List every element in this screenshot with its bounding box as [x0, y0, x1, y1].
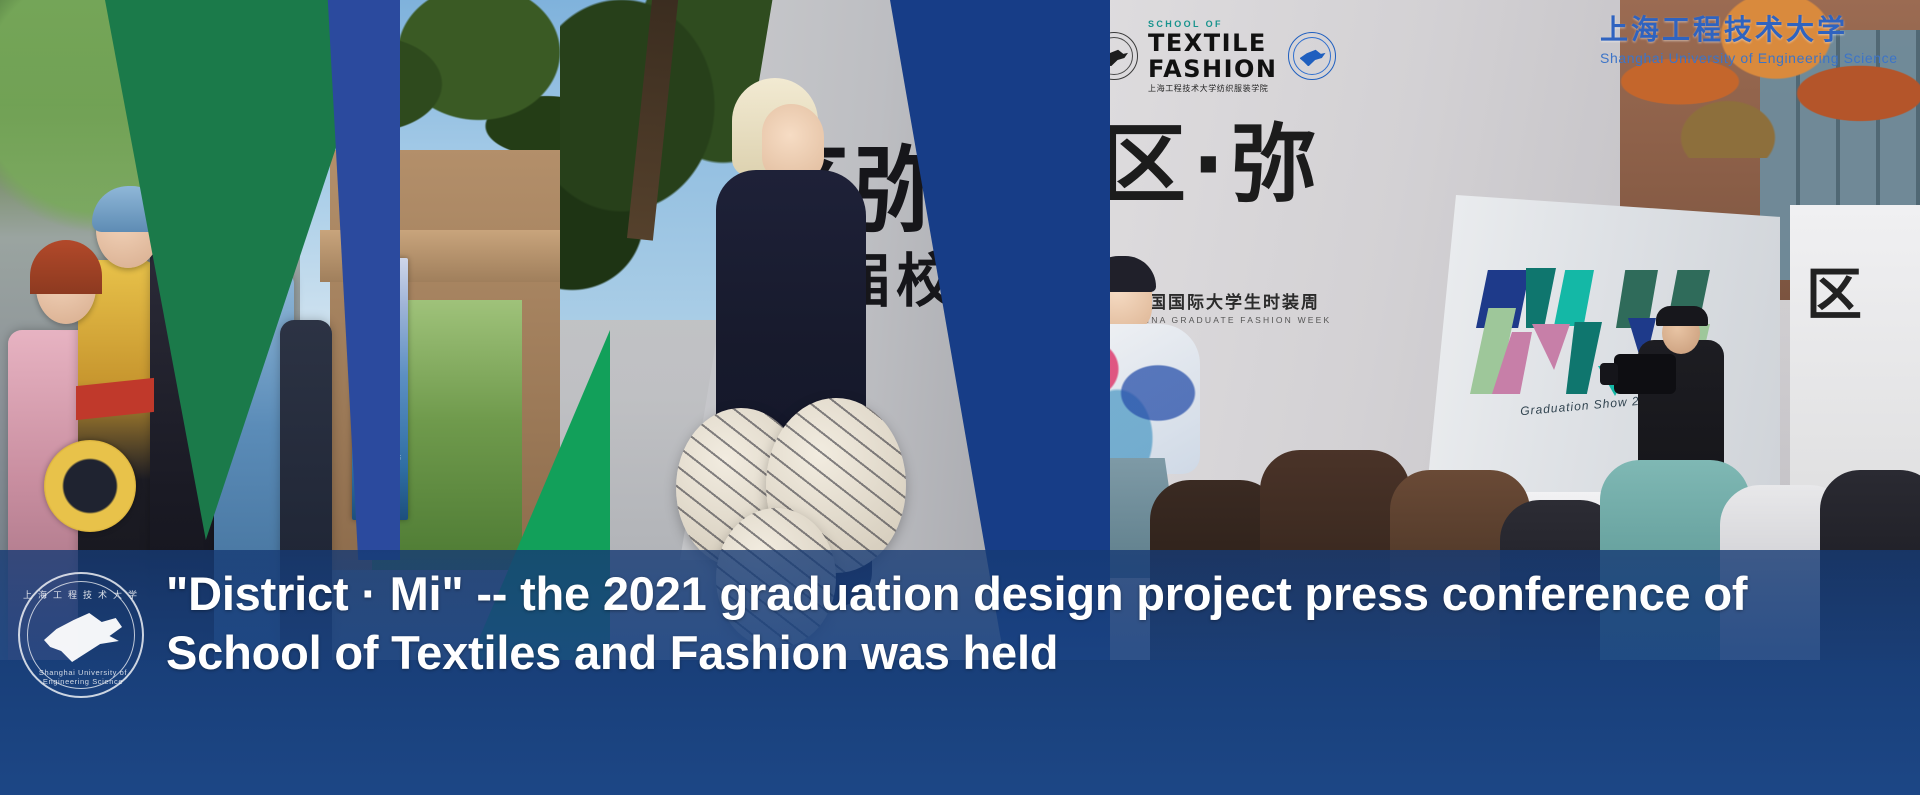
event-mark-text: 区·弥	[1100, 115, 1323, 215]
vertical-banner-subtitle: 毕业作品发布会	[358, 455, 402, 473]
caption-bar: 上海工程技术大学 Shanghai University of Engineer…	[0, 550, 1920, 795]
seal-chinese-text: 上海工程技术大学	[20, 588, 146, 601]
operator-cap	[1656, 306, 1708, 326]
logo-line-chinese: 上海工程技术大学纺织服装学院	[1148, 85, 1278, 93]
logo-line-fashion: FASHION	[1148, 57, 1278, 81]
backdrop-logo-row: SCHOOL OF TEXTILE FASHION 上海工程技术大学纺织服装学院	[1090, 20, 1336, 93]
seal-english-text: Shanghai University of Engineering Scien…	[20, 668, 146, 686]
logo-line-small: SCHOOL OF	[1148, 20, 1278, 29]
university-name-chinese: 上海工程技术大学	[1600, 8, 1900, 48]
university-seal-watermark: 上海工程技术大学 Shanghai University of Engineer…	[18, 572, 144, 698]
university-wordmark: 上海工程技术大学 Shanghai University of Engineer…	[1600, 8, 1900, 66]
university-seal-blue-icon	[1288, 32, 1336, 80]
banner-caption-text: "District · Mi" -- the 2021 graduation d…	[166, 564, 1906, 682]
university-name-english: Shanghai University of Engineering Scien…	[1600, 50, 1900, 66]
model-head	[164, 252, 214, 312]
graduation-press-conference-banner: University ... eering Science 毕业作品发布会 区弥…	[0, 0, 1920, 795]
dove-seal-icon	[368, 474, 392, 498]
video-camera-icon	[1614, 354, 1676, 394]
dove-icon	[44, 612, 122, 662]
vertical-event-banner: University ... eering Science 毕业作品发布会	[352, 258, 408, 520]
model-hair	[1088, 256, 1156, 292]
university-seal-icon	[1090, 32, 1138, 80]
circular-garment-motif	[44, 440, 136, 532]
side-board-mark: 区	[1806, 250, 1864, 331]
school-of-textile-fashion-logo: SCHOOL OF TEXTILE FASHION 上海工程技术大学纺织服装学院	[1148, 20, 1278, 93]
vertical-banner-text: University ... eering Science	[366, 298, 378, 473]
event-mark-logo: 区·弥	[1100, 122, 1323, 208]
logo-line-textile: TEXTILE	[1148, 31, 1278, 55]
